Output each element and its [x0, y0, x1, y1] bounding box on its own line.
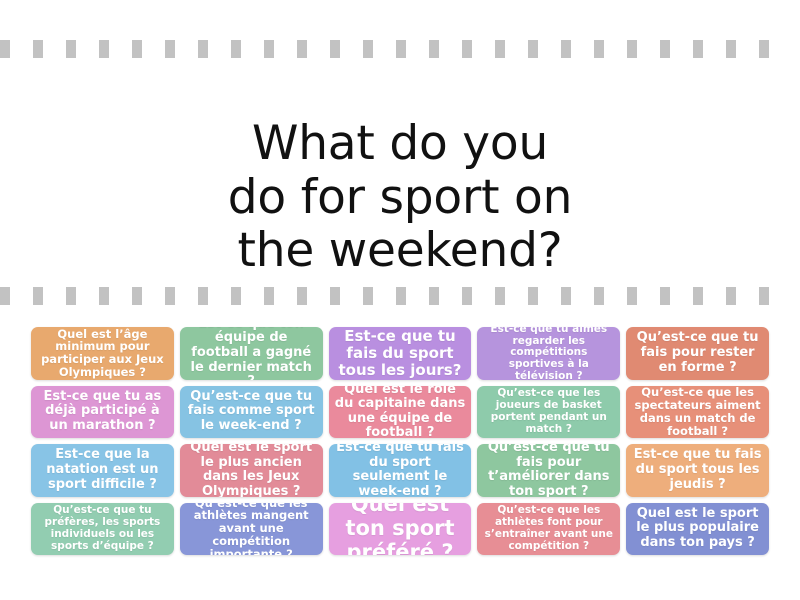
- question-card-text: Qu’est-ce que tu fais pour t’améliorer d…: [482, 444, 615, 497]
- divider-dash: [759, 287, 769, 305]
- divider-dash: [33, 40, 43, 58]
- divider-dash: [396, 287, 406, 305]
- question-card[interactable]: Qu’est-ce que les athlètes mangent avant…: [180, 503, 323, 556]
- divider-dash: [759, 40, 769, 58]
- question-card[interactable]: Est-ce que tu fais du sport tous les jou…: [329, 327, 472, 380]
- question-card[interactable]: Est-ce que tu fais du sport seulement le…: [329, 444, 472, 497]
- question-card-text: Est-ce que tu aimes regarder les compéti…: [482, 327, 615, 380]
- divider-dash: [99, 40, 109, 58]
- divider-dash: [165, 40, 175, 58]
- question-card-text: Qu’est-ce que les spectateurs aiment dan…: [631, 386, 764, 438]
- divider-dash: [528, 287, 538, 305]
- divider-dash: [330, 287, 340, 305]
- divider-dash: [495, 287, 505, 305]
- divider-dash: [693, 40, 703, 58]
- divider-dash: [363, 287, 373, 305]
- question-card[interactable]: Est-ce que tu aimes regarder les compéti…: [477, 327, 620, 380]
- dashed-divider-middle: [0, 287, 800, 305]
- divider-dash: [627, 287, 637, 305]
- divider-dash: [660, 40, 670, 58]
- divider-dash: [429, 287, 439, 305]
- divider-dash: [264, 40, 274, 58]
- question-card[interactable]: Qu’est-ce que les athlètes font pour s’e…: [477, 503, 620, 556]
- divider-dash: [495, 40, 505, 58]
- divider-dash: [264, 287, 274, 305]
- divider-dash: [165, 287, 175, 305]
- divider-dash: [429, 40, 439, 58]
- question-card[interactable]: Qu’est-ce que tu préfères, les sports in…: [31, 503, 174, 556]
- question-card[interactable]: Qu’est-ce que les spectateurs aiment dan…: [626, 386, 769, 439]
- question-card-text: Quel est ton sport préféré ?: [334, 503, 467, 556]
- question-card-text: Quel est l’âge minimum pour participer a…: [36, 328, 169, 380]
- question-card[interactable]: Qu’est-ce que les joueurs de basket port…: [477, 386, 620, 439]
- divider-dash: [132, 287, 142, 305]
- divider-dash: [99, 287, 109, 305]
- question-card-text: Est-ce que tu fais du sport seulement le…: [334, 444, 467, 497]
- divider-dash: [0, 287, 10, 305]
- question-card[interactable]: Est-ce que tu fais du sport tous les jeu…: [626, 444, 769, 497]
- question-card-text: Quel est le sport le plus populaire dans…: [631, 507, 764, 551]
- question-card-grid: Quel est l’âge minimum pour participer a…: [31, 327, 769, 555]
- divider-dash: [132, 40, 142, 58]
- divider-dash: [231, 40, 241, 58]
- divider-dash: [0, 40, 10, 58]
- dashed-divider-top: [0, 40, 800, 58]
- divider-dash: [33, 287, 43, 305]
- activity-page: What do you do for sport on the weekend?…: [0, 0, 800, 600]
- page-title: What do you do for sport on the weekend?: [0, 117, 800, 276]
- question-card[interactable]: Quel est le sport le plus ancien dans le…: [180, 444, 323, 497]
- divider-dash: [627, 40, 637, 58]
- divider-dash: [396, 40, 406, 58]
- question-card-text: Est-ce que la natation est un sport diff…: [36, 448, 169, 492]
- divider-dash: [462, 40, 472, 58]
- question-card-text: Est-ce que tu as déjà participé à un mar…: [36, 390, 169, 434]
- divider-dash: [726, 40, 736, 58]
- question-card-text: Est-ce que tu fais du sport tous les jeu…: [631, 448, 764, 492]
- question-card[interactable]: Quel est ton sport préféré ?: [329, 503, 472, 556]
- question-card-text: Qu’est-ce que tu fais comme sport le wee…: [185, 390, 318, 434]
- divider-dash: [363, 40, 373, 58]
- divider-dash: [594, 287, 604, 305]
- question-card[interactable]: Qu’est-ce que tu fais comme sport le wee…: [180, 386, 323, 439]
- divider-dash: [462, 287, 472, 305]
- question-card-text: Qu’est-ce que tu fais pour rester en for…: [631, 331, 764, 375]
- question-card[interactable]: Est-ce que tu as déjà participé à un mar…: [31, 386, 174, 439]
- divider-dash: [330, 40, 340, 58]
- question-card-text: Quel est le sport le plus ancien dans le…: [185, 444, 318, 497]
- question-card-text: Quel est le rôle du capitaine dans une é…: [334, 386, 467, 439]
- question-card[interactable]: Quel est le rôle du capitaine dans une é…: [329, 386, 472, 439]
- divider-dash: [198, 287, 208, 305]
- question-card-text: Qu’est-ce que les joueurs de basket port…: [482, 388, 615, 435]
- divider-dash: [66, 287, 76, 305]
- question-card-text: Qu’est-ce que tu préfères, les sports in…: [36, 505, 169, 552]
- question-card-text: Qu’est-ce que les athlètes mangent avant…: [185, 503, 318, 556]
- question-card[interactable]: Quel est l’âge minimum pour participer a…: [31, 327, 174, 380]
- question-card-text: Qu’est-ce que les athlètes font pour s’e…: [482, 505, 615, 552]
- divider-dash: [528, 40, 538, 58]
- question-card-text: Est-ce que ton équipe de football a gagn…: [185, 327, 318, 380]
- divider-dash: [693, 287, 703, 305]
- divider-dash: [198, 40, 208, 58]
- divider-dash: [297, 287, 307, 305]
- divider-dash: [594, 40, 604, 58]
- question-card[interactable]: Quel est le sport le plus populaire dans…: [626, 503, 769, 556]
- divider-dash: [726, 287, 736, 305]
- question-card-text: Est-ce que tu fais du sport tous les jou…: [334, 328, 467, 378]
- divider-dash: [297, 40, 307, 58]
- divider-dash: [660, 287, 670, 305]
- question-card[interactable]: Qu’est-ce que tu fais pour rester en for…: [626, 327, 769, 380]
- divider-dash: [231, 287, 241, 305]
- divider-dash: [561, 287, 571, 305]
- divider-dash: [561, 40, 571, 58]
- divider-dash: [66, 40, 76, 58]
- question-card[interactable]: Est-ce que la natation est un sport diff…: [31, 444, 174, 497]
- question-card[interactable]: Est-ce que ton équipe de football a gagn…: [180, 327, 323, 380]
- question-card[interactable]: Qu’est-ce que tu fais pour t’améliorer d…: [477, 444, 620, 497]
